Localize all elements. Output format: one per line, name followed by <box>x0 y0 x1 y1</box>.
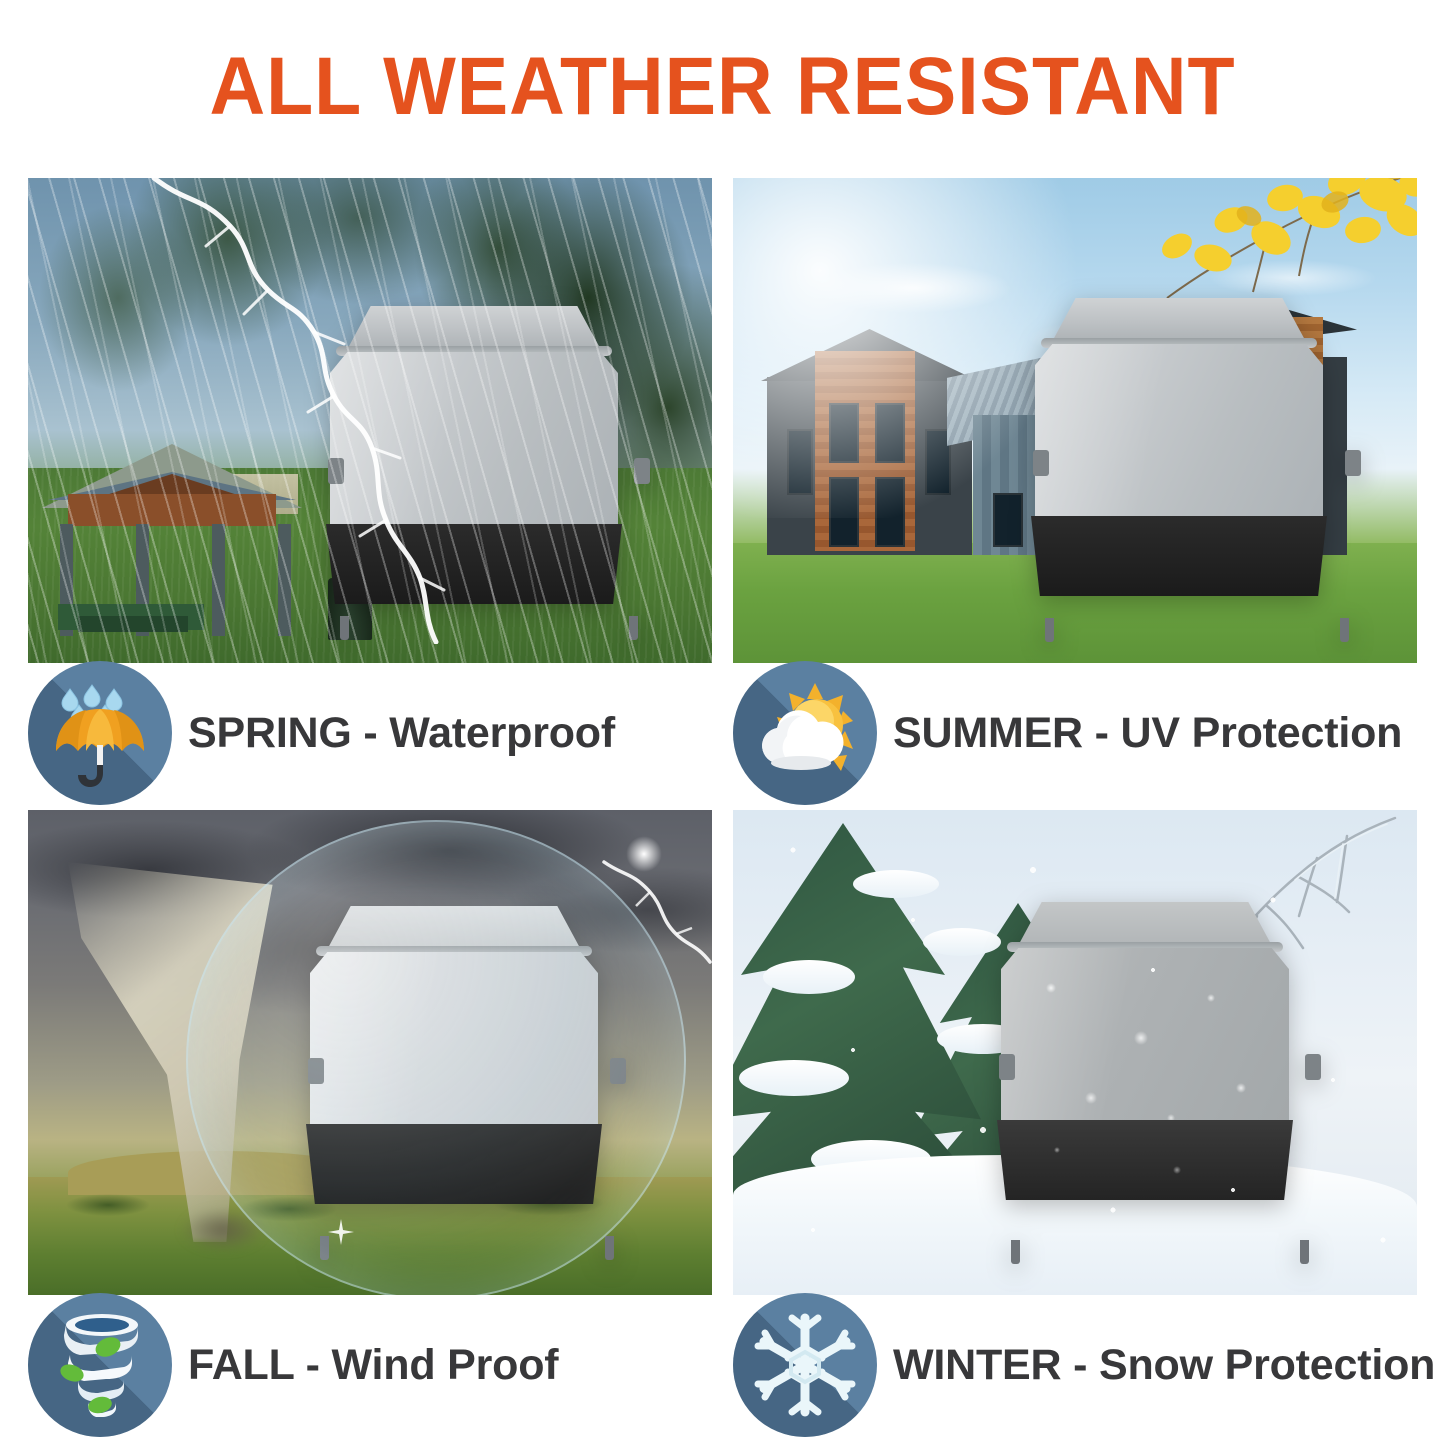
cover-handle <box>1033 450 1049 476</box>
cover-handle <box>634 458 650 484</box>
caption-fall: FALL - Wind Proof <box>28 1280 712 1450</box>
snowflake-icon <box>733 1293 877 1437</box>
cover-handle <box>1345 450 1361 476</box>
caption-spring: SPRING - Waterproof <box>28 648 712 818</box>
page-title: ALL WEATHER RESISTANT <box>43 46 1401 128</box>
caption-label-winter: WINTER - Snow Protection <box>893 1341 1435 1390</box>
weather-feature-grid: SPRING - Waterproof <box>28 178 1417 1418</box>
cover-hood <box>1053 298 1305 340</box>
scene-photo-spring <box>28 178 712 663</box>
badge-spring <box>28 661 172 805</box>
caption-label-summer: SUMMER - UV Protection <box>893 709 1402 758</box>
feature-panel-summer: SUMMER - UV Protection <box>733 178 1417 818</box>
tornado-leaves-icon <box>28 1293 172 1437</box>
feature-panel-spring: SPRING - Waterproof <box>28 178 712 818</box>
caption-label-fall: FALL - Wind Proof <box>188 1341 558 1390</box>
lightning-bolt-icon <box>598 852 712 1002</box>
umbrella-rain-icon <box>28 661 172 805</box>
scene-photo-winter <box>733 810 1417 1295</box>
cover-strap <box>605 1236 614 1260</box>
snowfall-overlay <box>733 810 1417 1295</box>
cover-body <box>1035 344 1323 520</box>
caption-winter: WINTER - Snow Protection <box>733 1280 1417 1450</box>
lightning-bolt-icon <box>148 178 468 644</box>
caption-label-spring: SPRING - Waterproof <box>188 709 615 758</box>
sparkle-icon <box>328 1219 354 1245</box>
caption-summer: SUMMER - UV Protection <box>733 648 1417 818</box>
badge-summer <box>733 661 877 805</box>
cover-strap <box>1045 618 1054 642</box>
feature-panel-fall: FALL - Wind Proof <box>28 810 712 1450</box>
grill-cover-product-summer <box>1029 298 1365 638</box>
sun-cloud-icon <box>733 661 877 805</box>
cover-strap <box>1340 618 1349 642</box>
cover-lower-skirt <box>1031 516 1327 596</box>
scene-photo-fall <box>28 810 712 1295</box>
badge-fall <box>28 1293 172 1437</box>
scene-photo-summer <box>733 178 1417 663</box>
badge-winter <box>733 1293 877 1437</box>
cover-strap <box>629 616 638 640</box>
feature-panel-winter: WINTER - Snow Protection <box>733 810 1417 1450</box>
